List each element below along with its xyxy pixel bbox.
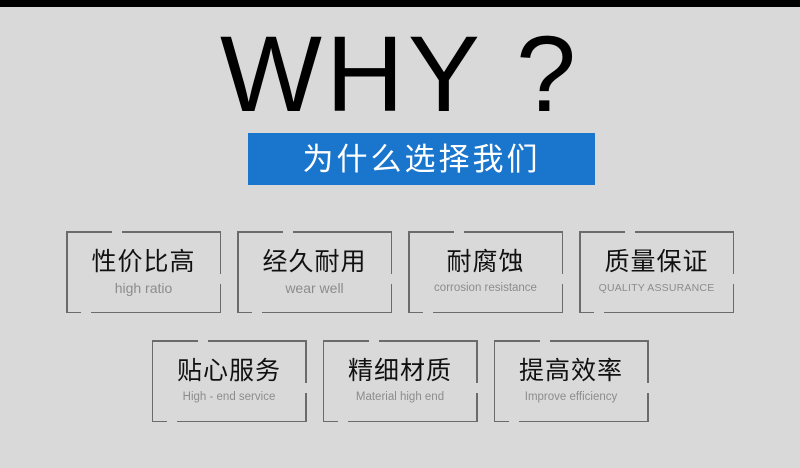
bracket-bottom-left bbox=[494, 421, 509, 423]
bracket-bottom-right bbox=[177, 421, 307, 423]
bracket-right-upper bbox=[647, 340, 649, 383]
bracket-top-left bbox=[237, 231, 283, 233]
bracket-right-lower bbox=[562, 284, 564, 313]
bracket-left bbox=[66, 231, 68, 313]
bracket-left bbox=[152, 340, 154, 422]
bracket-bottom-right bbox=[433, 312, 563, 314]
bracket-bottom-left bbox=[66, 312, 81, 314]
bracket-left bbox=[323, 340, 325, 422]
bracket-top-right bbox=[208, 340, 307, 342]
bracket-right-upper bbox=[733, 231, 735, 274]
bracket-bottom-right bbox=[604, 312, 734, 314]
bracket-top-right bbox=[464, 231, 563, 233]
bracket-bottom-left bbox=[408, 312, 423, 314]
feature-card-high-end-service: 贴心服务 High - end service bbox=[152, 340, 307, 422]
feature-title-en: wear well bbox=[285, 280, 343, 296]
hero-section: WHY ? 为什么选择我们 bbox=[0, 7, 800, 199]
feature-title-cn: 经久耐用 bbox=[262, 248, 366, 277]
bracket-right-lower bbox=[391, 284, 393, 313]
feature-card-corrosion-resistance: 耐腐蚀 corrosion resistance bbox=[408, 231, 563, 313]
feature-title-en: QUALITY ASSURANCE bbox=[599, 280, 715, 296]
bracket-bottom-left bbox=[152, 421, 167, 423]
feature-title-cn: 提高效率 bbox=[519, 357, 623, 386]
feature-card-improve-efficiency: 提高效率 Improve efficiency bbox=[494, 340, 649, 422]
bracket-bottom-right bbox=[262, 312, 392, 314]
bracket-right-upper bbox=[476, 340, 478, 383]
bracket-top-left bbox=[579, 231, 625, 233]
bracket-bottom-right bbox=[519, 421, 649, 423]
bracket-right-upper bbox=[305, 340, 307, 383]
subtitle-text: 为什么选择我们 bbox=[303, 144, 541, 175]
feature-title-en: Material high end bbox=[356, 389, 444, 405]
features-grid: 性价比高 high ratio 经久耐用 wear well 耐腐蚀 corro… bbox=[0, 231, 800, 422]
bracket-bottom-left bbox=[579, 312, 594, 314]
bracket-right-lower bbox=[733, 284, 735, 313]
top-black-bar bbox=[0, 0, 800, 7]
bracket-top-left bbox=[408, 231, 454, 233]
bracket-top-right bbox=[635, 231, 734, 233]
bracket-top-left bbox=[152, 340, 198, 342]
bracket-right-lower bbox=[305, 393, 307, 422]
feature-title-en: corrosion resistance bbox=[434, 280, 537, 296]
bracket-top-left bbox=[66, 231, 112, 233]
bracket-top-right bbox=[293, 231, 392, 233]
feature-title-en: Improve efficiency bbox=[525, 389, 617, 405]
bracket-left bbox=[408, 231, 410, 313]
feature-card-wear-well: 经久耐用 wear well bbox=[237, 231, 392, 313]
feature-title-en: High - end service bbox=[183, 389, 276, 405]
bracket-left bbox=[494, 340, 496, 422]
feature-title-cn: 贴心服务 bbox=[177, 357, 281, 386]
bracket-top-left bbox=[494, 340, 540, 342]
bracket-top-right bbox=[550, 340, 649, 342]
bracket-top-right bbox=[122, 231, 221, 233]
bracket-bottom-left bbox=[323, 421, 338, 423]
bracket-right-lower bbox=[647, 393, 649, 422]
feature-title-cn: 精细材质 bbox=[348, 357, 452, 386]
feature-title-cn: 性价比高 bbox=[91, 248, 195, 277]
feature-row-1: 性价比高 high ratio 经久耐用 wear well 耐腐蚀 corro… bbox=[0, 231, 800, 313]
bracket-right-lower bbox=[476, 393, 478, 422]
bracket-left bbox=[237, 231, 239, 313]
feature-card-quality-assurance: 质量保证 QUALITY ASSURANCE bbox=[579, 231, 734, 313]
bracket-top-left bbox=[323, 340, 369, 342]
bracket-top-right bbox=[379, 340, 478, 342]
page-title: WHY ? bbox=[0, 15, 800, 133]
bracket-left bbox=[579, 231, 581, 313]
feature-title-cn: 耐腐蚀 bbox=[446, 248, 524, 277]
bracket-bottom-left bbox=[237, 312, 252, 314]
feature-title-cn: 质量保证 bbox=[604, 248, 708, 277]
bracket-right-lower bbox=[220, 284, 222, 313]
bracket-right-upper bbox=[391, 231, 393, 274]
feature-card-high-ratio: 性价比高 high ratio bbox=[66, 231, 221, 313]
bracket-bottom-right bbox=[348, 421, 478, 423]
subtitle-banner: 为什么选择我们 bbox=[248, 133, 595, 185]
feature-row-2: 贴心服务 High - end service 精细材质 Material hi… bbox=[0, 340, 800, 422]
bracket-right-upper bbox=[562, 231, 564, 274]
bracket-right-upper bbox=[220, 231, 222, 274]
bracket-bottom-right bbox=[91, 312, 221, 314]
feature-title-en: high ratio bbox=[115, 280, 173, 296]
feature-card-material-high-end: 精细材质 Material high end bbox=[323, 340, 478, 422]
